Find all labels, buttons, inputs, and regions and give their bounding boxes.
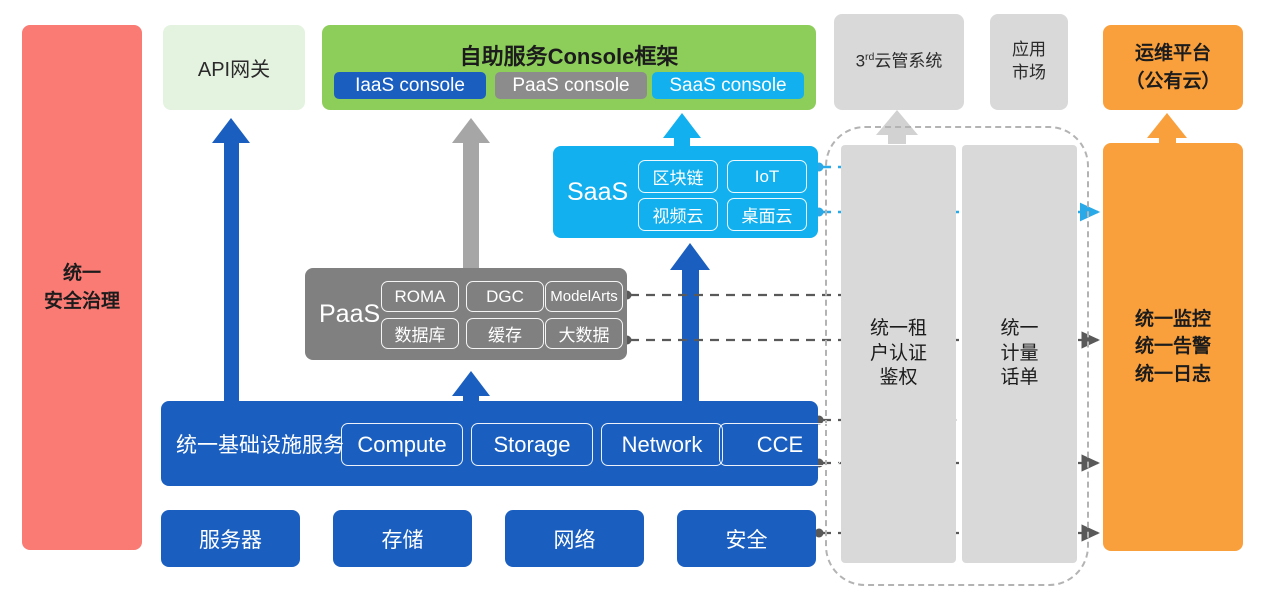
- layer-paas: PaaS ROMA DGC ModelArts 数据库 缓存 大数据: [305, 268, 627, 360]
- saas-layer-label: SaaS: [567, 146, 628, 238]
- column-unified-metering-billing-label: 统一 计量 话单: [1000, 317, 1038, 391]
- saas-item-blockchain[interactable]: 区块链: [638, 160, 718, 193]
- arrow-paas-to-console: [452, 118, 490, 269]
- column-unified-tenant-auth: 统一租 户认证 鉴权: [841, 145, 956, 563]
- saas-item-video-cloud-label: 视频云: [653, 202, 704, 227]
- arrow-infra-to-saas: [670, 243, 710, 410]
- box-app-market[interactable]: 应用 市场: [990, 14, 1068, 110]
- paas-item-database[interactable]: 数据库: [381, 318, 459, 349]
- box-ops-platform-header[interactable]: 运维平台 （公有云）: [1103, 25, 1243, 110]
- box-resource-storage-label: 存储: [382, 524, 424, 554]
- infra-item-compute[interactable]: Compute: [341, 423, 463, 466]
- chip-paas-console-label: PaaS console: [512, 75, 629, 97]
- box-resource-network[interactable]: 网络: [505, 510, 644, 567]
- paas-item-modelarts[interactable]: ModelArts: [545, 281, 623, 312]
- paas-item-cache[interactable]: 缓存: [466, 318, 544, 349]
- box-resource-server-label: 服务器: [199, 524, 262, 554]
- paas-item-bigdata[interactable]: 大数据: [545, 318, 623, 349]
- column-unified-tenant-auth-label: 统一租 户认证 鉴权: [870, 317, 927, 391]
- paas-item-dgc[interactable]: DGC: [466, 281, 544, 312]
- architecture-diagram: 统一 安全治理 API网关 自助服务Console框架 IaaS console…: [0, 0, 1265, 605]
- third-party-label-pre: 3: [856, 52, 865, 71]
- paas-item-bigdata-label: 大数据: [559, 321, 610, 346]
- security-panel-label: 统一 安全治理: [44, 260, 120, 315]
- saas-item-blockchain-label: 区块链: [653, 164, 704, 189]
- saas-item-desktop-cloud-label: 桌面云: [742, 202, 793, 227]
- layer-unified-infrastructure: 统一基础设施服务 Compute Storage Network CCE: [161, 401, 818, 486]
- third-party-label-post: 云管系统: [874, 52, 942, 71]
- chip-saas-console[interactable]: SaaS console: [652, 72, 804, 99]
- paas-item-roma[interactable]: ROMA: [381, 281, 459, 312]
- infra-item-cce[interactable]: CCE: [719, 423, 841, 466]
- infra-item-network[interactable]: Network: [601, 423, 723, 466]
- paas-item-roma-label: ROMA: [395, 287, 446, 307]
- box-third-party-cloud-mgmt[interactable]: 3rd云管系统: [834, 14, 964, 110]
- panel-ops-monitoring: 统一监控 统一告警 统一日志: [1103, 143, 1243, 551]
- saas-item-iot[interactable]: IoT: [727, 160, 807, 193]
- infra-item-storage[interactable]: Storage: [471, 423, 593, 466]
- infra-item-storage-label: Storage: [493, 432, 570, 458]
- api-gateway-label: API网关: [198, 53, 270, 82]
- box-resource-storage[interactable]: 存储: [333, 510, 472, 567]
- infra-item-cce-label: CCE: [757, 432, 803, 458]
- box-resource-security[interactable]: 安全: [677, 510, 816, 567]
- infra-item-network-label: Network: [622, 432, 703, 458]
- infra-layer-label: 统一基础设施服务: [176, 401, 344, 486]
- saas-item-iot-label: IoT: [755, 167, 780, 187]
- column-unified-metering-billing: 统一 计量 话单: [962, 145, 1077, 563]
- box-resource-network-label: 网络: [554, 524, 596, 554]
- paas-item-modelarts-label: ModelArts: [550, 288, 618, 305]
- box-self-service-console-framework: 自助服务Console框架 IaaS console PaaS console …: [322, 25, 816, 110]
- chip-iaas-console[interactable]: IaaS console: [334, 72, 486, 99]
- panel-unified-security-governance: 统一 安全治理: [22, 25, 142, 550]
- paas-item-database-label: 数据库: [395, 321, 446, 346]
- chip-iaas-console-label: IaaS console: [355, 75, 465, 97]
- paas-item-cache-label: 缓存: [488, 321, 522, 346]
- layer-saas: SaaS 区块链 IoT 视频云 桌面云: [553, 146, 818, 238]
- chip-saas-console-label: SaaS console: [669, 75, 786, 97]
- box-resource-server[interactable]: 服务器: [161, 510, 300, 567]
- box-api-gateway[interactable]: API网关: [163, 25, 305, 110]
- saas-item-video-cloud[interactable]: 视频云: [638, 198, 718, 231]
- ops-platform-label: 运维平台 （公有云）: [1125, 40, 1220, 95]
- paas-layer-label: PaaS: [319, 268, 380, 360]
- third-party-label: 3rd云管系统: [856, 50, 943, 74]
- paas-item-dgc-label: DGC: [486, 287, 524, 307]
- console-framework-title: 自助服务Console框架: [322, 39, 816, 71]
- app-market-label: 应用 市场: [1012, 39, 1046, 85]
- arrow-infra-to-apigw: [212, 118, 250, 404]
- ops-platform-body: 统一监控 统一告警 统一日志: [1135, 306, 1211, 389]
- chip-paas-console[interactable]: PaaS console: [495, 72, 647, 99]
- box-resource-security-label: 安全: [726, 524, 768, 554]
- infra-item-compute-label: Compute: [357, 432, 446, 458]
- saas-item-desktop-cloud[interactable]: 桌面云: [727, 198, 807, 231]
